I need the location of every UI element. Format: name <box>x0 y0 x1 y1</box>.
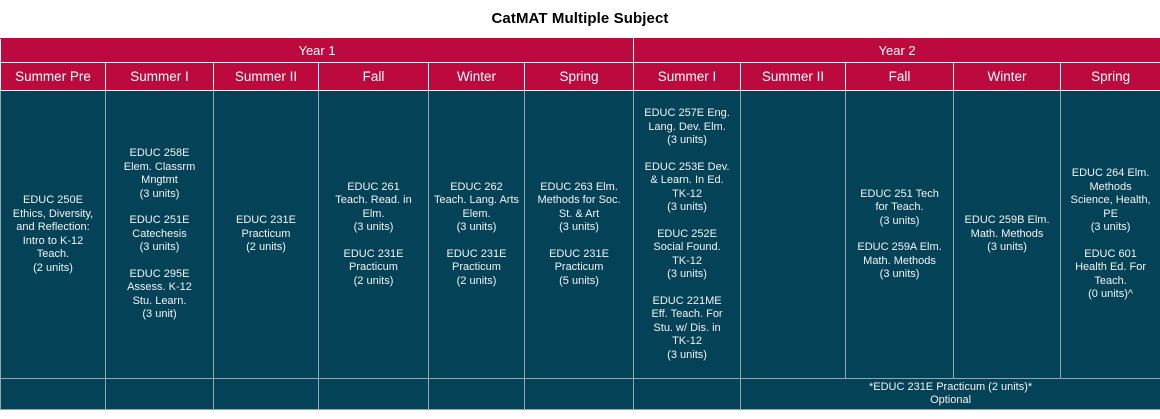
footnote-spacer-y1-summer-pre <box>1 379 106 410</box>
course-entry: EDUC 601Health Ed. ForTeach.(0 units)^ <box>1064 248 1157 302</box>
footnote-spacer-y1-fall <box>319 379 429 410</box>
term-header-y2-winter: Winter <box>954 63 1061 91</box>
term-header-y2-fall: Fall <box>846 63 954 91</box>
course-entry: EDUC 231EPracticum(2 units) <box>217 214 315 255</box>
course-entry: EDUC 263 Elm.Methods for Soc.St. & Art(3… <box>528 181 630 235</box>
footnote-spacer-y1-summer-1 <box>106 379 214 410</box>
course-cell-y2-spring: EDUC 264 Elm.MethodsScience, Health,PE(3… <box>1061 91 1160 379</box>
footnote-line-2: Optional <box>744 394 1157 408</box>
course-cell-y1-summer-1: EDUC 258EElem. ClassrmMngtmt(3 units)EDU… <box>106 91 214 379</box>
course-entry: EDUC 262Teach. Lang. ArtsElem.(3 units) <box>432 181 521 235</box>
course-cell-y2-fall: EDUC 251 Techfor Teach.(3 units)EDUC 259… <box>846 91 954 379</box>
course-entry: EDUC 251ECatechesis(3 units) <box>109 214 210 255</box>
course-row: EDUC 250EEthics, Diversity,and Reflectio… <box>1 91 1160 379</box>
course-entry: EDUC 250EEthics, Diversity,and Reflectio… <box>4 194 102 275</box>
course-entry: EDUC 221MEEff. Teach. ForStu. w/ Dis. in… <box>637 295 737 363</box>
footnote-spacer-y1-winter <box>429 379 525 410</box>
course-entry: EDUC 252ESocial Found.TK-12(3 units) <box>637 228 737 282</box>
course-cell-y1-winter: EDUC 262Teach. Lang. ArtsElem.(3 units)E… <box>429 91 525 379</box>
term-header-y1-summer-pre: Summer Pre <box>1 63 106 91</box>
term-header-row: Summer Pre Summer I Summer II Fall Winte… <box>1 63 1160 91</box>
term-header-y1-spring: Spring <box>525 63 634 91</box>
course-entry: EDUC 231EPracticum(2 units) <box>432 248 521 289</box>
footnote-optional-practicum: *EDUC 231E Practicum (2 units)* Optional <box>741 379 1160 410</box>
footnote-spacer-y1-spring <box>525 379 634 410</box>
course-cell-y1-spring: EDUC 263 Elm.Methods for Soc.St. & Art(3… <box>525 91 634 379</box>
course-cell-y2-summer-1: EDUC 257E Eng.Lang. Dev. Elm.(3 units)ED… <box>634 91 741 379</box>
course-entry: EDUC 295EAssess. K-12Stu. Learn.(3 unit) <box>109 268 210 322</box>
term-header-y1-summer-2: Summer II <box>214 63 319 91</box>
footnote-row: *EDUC 231E Practicum (2 units)* Optional <box>1 379 1160 410</box>
course-cell-y1-summer-2: EDUC 231EPracticum(2 units) <box>214 91 319 379</box>
term-header-y2-summer-2: Summer II <box>741 63 846 91</box>
term-header-y2-spring: Spring <box>1061 63 1160 91</box>
course-entry: EDUC 261Teach. Read. inElm.(3 units) <box>322 181 425 235</box>
term-header-y1-fall: Fall <box>319 63 429 91</box>
term-header-y1-winter: Winter <box>429 63 525 91</box>
course-entry: EDUC 258EElem. ClassrmMngtmt(3 units) <box>109 147 210 201</box>
course-entry: EDUC 231EPracticum(5 units) <box>528 248 630 289</box>
course-entry: EDUC 259A Elm.Math. Methods(3 units) <box>849 241 950 282</box>
course-entry: EDUC 251 Techfor Teach.(3 units) <box>849 188 950 229</box>
course-cell-y2-summer-2 <box>741 91 846 379</box>
course-cell-y2-winter: EDUC 259B Elm.Math. Methods(3 units) <box>954 91 1061 379</box>
footnote-spacer-y1-summer-2 <box>214 379 319 410</box>
course-entry: EDUC 264 Elm.MethodsScience, Health,PE(3… <box>1064 167 1157 235</box>
term-header-y2-summer-1: Summer I <box>634 63 741 91</box>
term-header-y1-summer-1: Summer I <box>106 63 214 91</box>
course-entry: EDUC 231EPracticum(2 units) <box>322 248 425 289</box>
footnote-spacer-y2-summer-1 <box>634 379 741 410</box>
course-entry: EDUC 257E Eng.Lang. Dev. Elm.(3 units) <box>637 107 737 148</box>
course-entry: EDUC 259B Elm.Math. Methods(3 units) <box>957 214 1057 255</box>
year-header-year-2: Year 2 <box>634 39 1160 63</box>
page-title: CatMAT Multiple Subject <box>0 0 1160 38</box>
program-roadmap-table: Year 1 Year 2 Summer Pre Summer I Summer… <box>0 38 1160 410</box>
year-header-year-1: Year 1 <box>1 39 634 63</box>
course-cell-y1-fall: EDUC 261Teach. Read. inElm.(3 units)EDUC… <box>319 91 429 379</box>
footnote-line-1: *EDUC 231E Practicum (2 units)* <box>744 381 1157 395</box>
year-header-row: Year 1 Year 2 <box>1 39 1160 63</box>
course-cell-y1-summer-pre: EDUC 250EEthics, Diversity,and Reflectio… <box>1 91 106 379</box>
course-entry: EDUC 253E Dev.& Learn. In Ed.TK-12(3 uni… <box>637 161 737 215</box>
